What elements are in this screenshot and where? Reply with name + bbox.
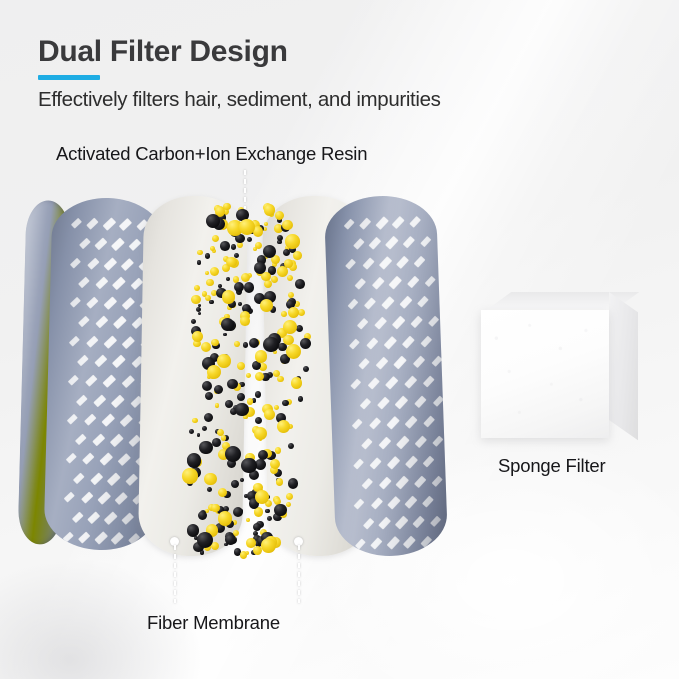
label-fiber-membrane: Fiber Membrane <box>147 612 280 634</box>
granule-column <box>176 206 306 556</box>
sponge-texture-overlay <box>481 310 609 438</box>
sponge-side-face <box>609 292 638 440</box>
mesh-screen-face <box>324 194 448 558</box>
title-accent-bar <box>38 75 100 80</box>
label-sponge-filter: Sponge Filter <box>498 455 605 477</box>
leader-line-fiber-membrane-right <box>298 545 300 603</box>
sponge-filter-block <box>481 292 639 442</box>
infographic-canvas: Dual Filter Design Effectively filters h… <box>0 0 679 679</box>
header-block: Dual Filter Design Effectively filters h… <box>38 36 441 112</box>
label-activated-carbon-ion-exchange-resin: Activated Carbon+Ion Exchange Resin <box>56 143 367 165</box>
leader-line-carbon-resin <box>244 170 246 214</box>
mesh-hole-grid <box>324 194 448 558</box>
page-subtitle: Effectively filters hair, sediment, and … <box>38 88 441 112</box>
page-title: Dual Filter Design <box>38 36 441 68</box>
leader-line-fiber-membrane-left <box>174 545 176 603</box>
mesh-screen-right <box>324 194 448 558</box>
